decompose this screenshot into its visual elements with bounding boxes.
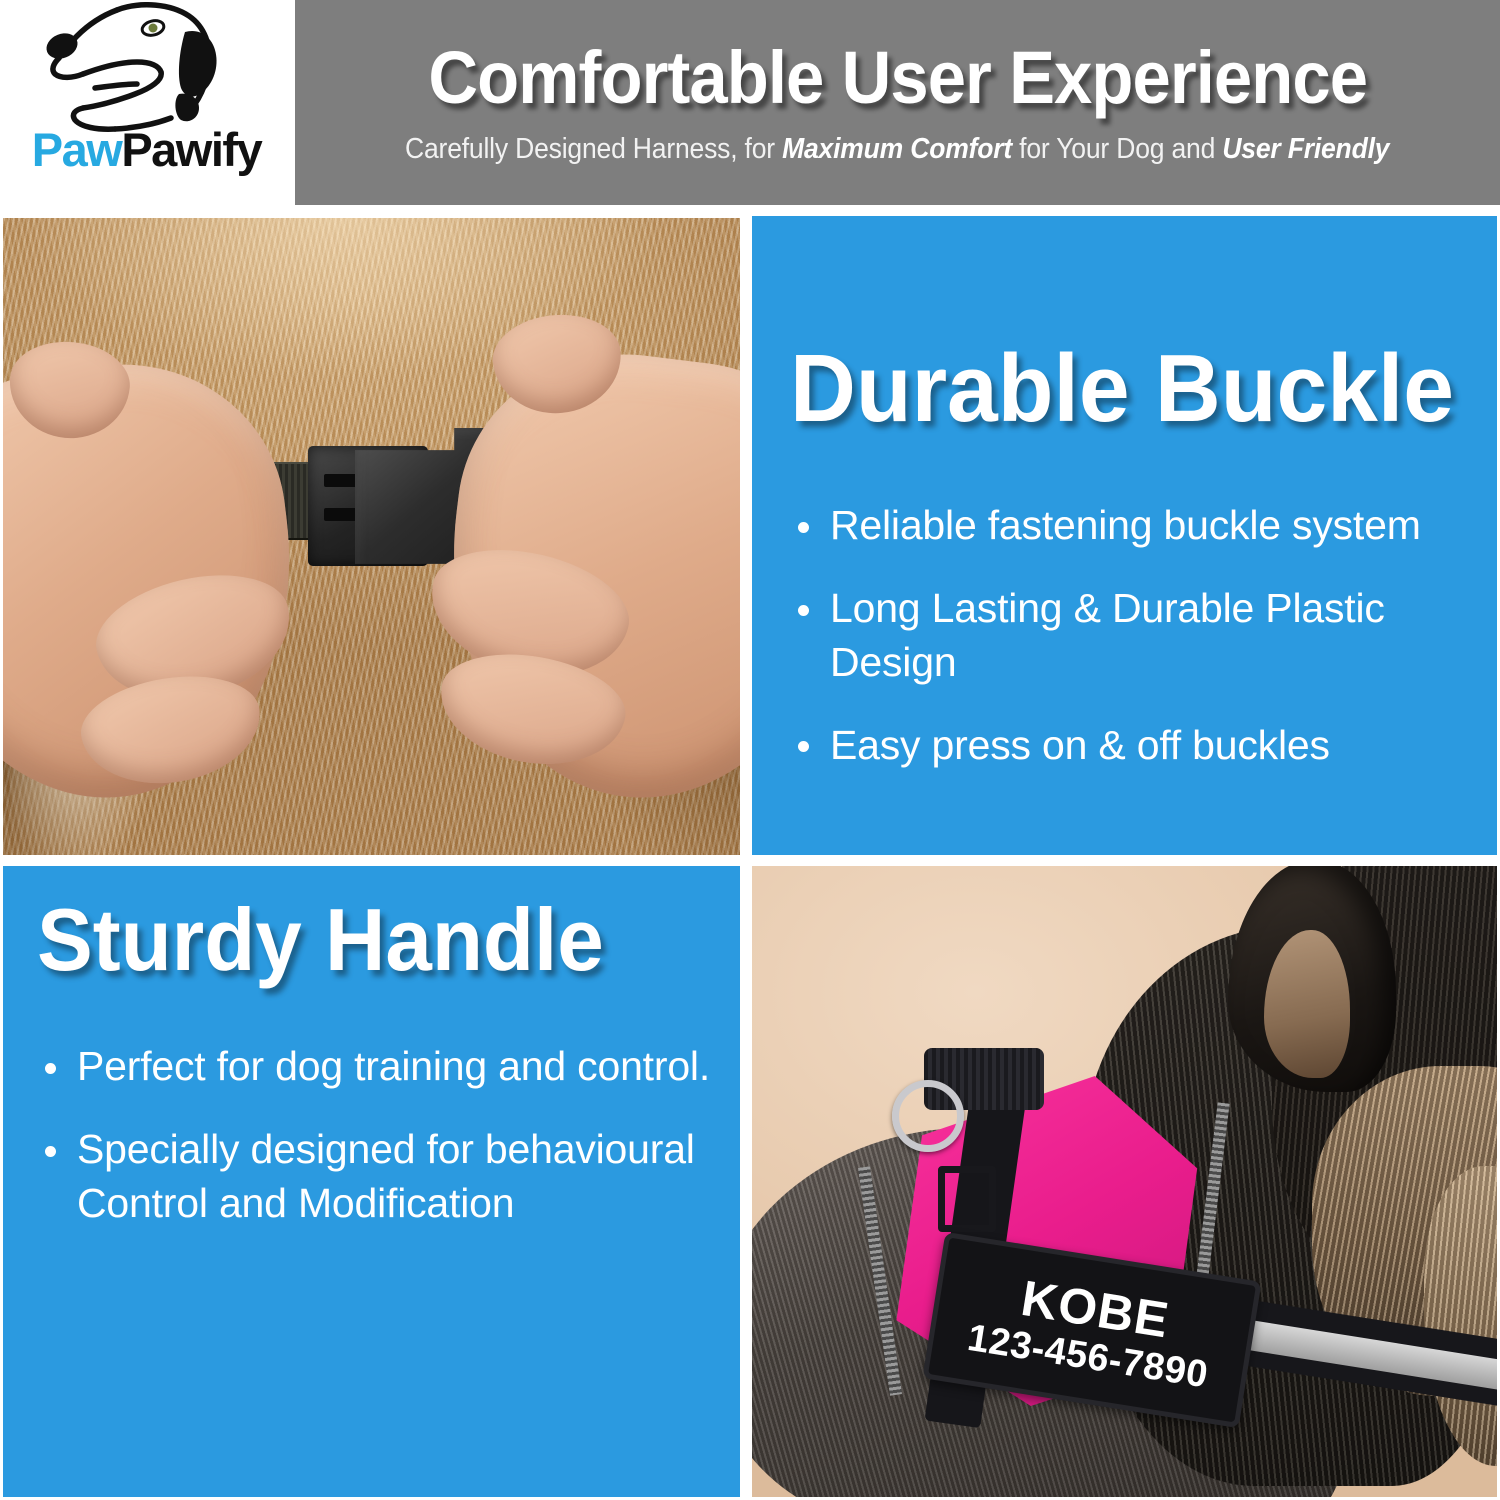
subtitle-emphasis-1: Maximum Comfort: [782, 133, 1012, 165]
brand-name-part1: Paw: [32, 123, 122, 176]
harness-d-ring: [892, 1080, 964, 1152]
list-item: Specially designed for behavioural Contr…: [37, 1123, 716, 1230]
list-item: Reliable fastening buckle system: [790, 499, 1467, 552]
brand-name-part2: Pawify: [121, 123, 261, 176]
header-title: Comfortable User Experience: [428, 41, 1367, 115]
list-item: Long Lasting & Durable Plastic Design: [790, 582, 1467, 689]
brand-wordmark: PawPawify: [32, 126, 261, 173]
brand-logo: PawPawify: [0, 0, 293, 206]
durable-buckle-panel: Durable Buckle Reliable fastening buckle…: [752, 216, 1497, 855]
header-banner: Comfortable User Experience Carefully De…: [295, 0, 1500, 205]
sturdy-handle-bullet-list: Perfect for dog training and control. Sp…: [37, 1040, 716, 1230]
durable-buckle-title: Durable Buckle: [790, 341, 1433, 437]
subtitle-text-2: for Your Dog and: [1012, 133, 1222, 165]
dog-harness-photo-panel: KOBE 123-456-7890: [752, 866, 1497, 1497]
header: PawPawify Comfortable User Experience Ca…: [0, 0, 1500, 206]
buckle-photo-panel: [3, 218, 740, 855]
subtitle-text-1: Carefully Designed Harness, for: [405, 133, 782, 165]
subtitle-emphasis-2: User Friendly: [1223, 133, 1390, 165]
durable-buckle-bullet-list: Reliable fastening buckle system Long La…: [790, 499, 1467, 772]
product-infographic: PawPawify Comfortable User Experience Ca…: [0, 0, 1500, 1500]
header-subtitle: Carefully Designed Harness, for Maximum …: [405, 135, 1389, 164]
list-item: Perfect for dog training and control.: [37, 1040, 716, 1093]
sturdy-handle-panel: Sturdy Handle Perfect for dog training a…: [3, 866, 740, 1497]
sturdy-handle-title: Sturdy Handle: [37, 896, 682, 984]
dog-head-icon: [39, 2, 254, 132]
list-item: Easy press on & off buckles: [790, 719, 1467, 772]
harness-strap-adjuster: [938, 1166, 996, 1232]
